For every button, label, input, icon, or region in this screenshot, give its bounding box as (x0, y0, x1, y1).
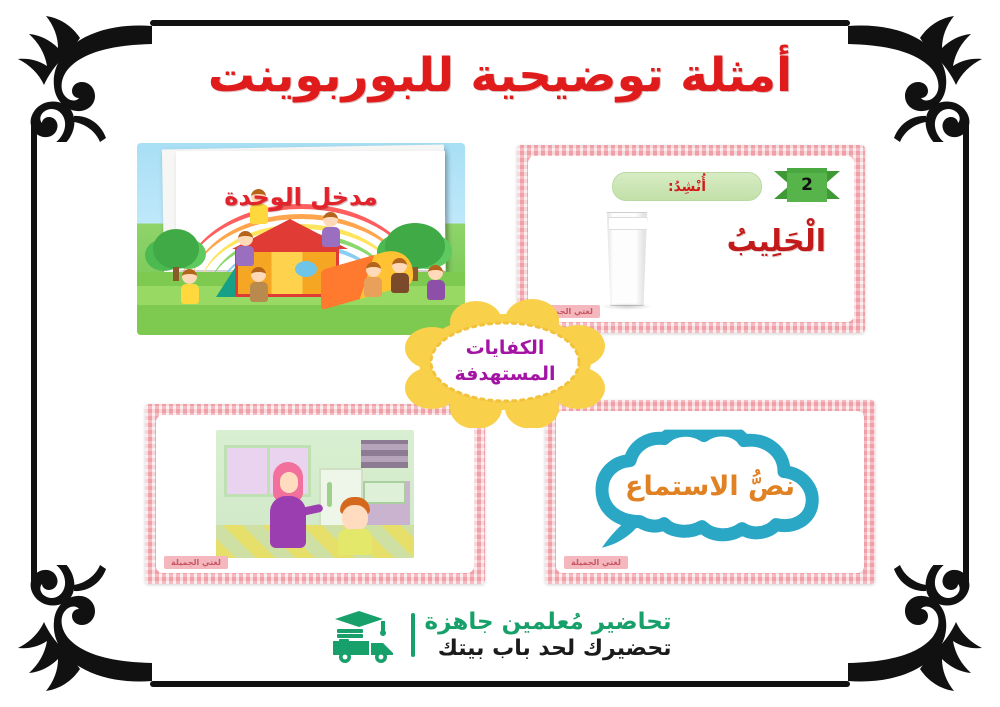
brand-text-block: تحاضير مُعلمين جاهزة تحضيرك لحد باب بيتك (425, 609, 672, 661)
kitchen-illustration (216, 430, 414, 558)
frame-line-right (963, 118, 969, 588)
child-figure (249, 267, 269, 302)
slide-number-ribbon: 2 (774, 168, 840, 202)
unit-intro-heading: مدخل الوحدة (137, 183, 465, 211)
competency-line-1: الكفايات (466, 336, 545, 362)
child-figure (390, 258, 410, 293)
child-figure (180, 269, 200, 304)
kitchen-upper-cabinet (361, 440, 409, 468)
brand-logo: تحاضير مُعلمين جاهزة تحضيرك لحد باب بيتك (0, 607, 1000, 663)
milk-glass-image (604, 212, 650, 306)
slide-kitchen-scene[interactable]: لغتي الجميلة (145, 404, 485, 584)
child-figure (235, 231, 255, 266)
delivery-truck-graduation-cap-icon (329, 607, 401, 663)
sing-label-pill: أُنْشِدُ: (612, 172, 762, 201)
slide-number-text: 2 (801, 175, 813, 195)
child-figure (336, 497, 374, 553)
competency-line-2: المستهدفة (455, 362, 556, 388)
page-root: أمثلة توضيحية للبوربوينت (0, 0, 1000, 707)
brand-name: تحاضير مُعلمين جاهزة (425, 609, 672, 635)
brand-tagline: تحضيرك لحد باب بيتك (425, 636, 672, 661)
slide-footer-label: لغتي الجميلة (564, 556, 628, 569)
child-figure (321, 212, 341, 247)
slide-kitchen-canvas: لغتي الجميلة (156, 415, 474, 573)
listening-text-label: نصُّ الاستماع (556, 411, 864, 573)
slide-footer-label: لغتي الجميلة (164, 556, 228, 569)
center-flower-badge: الكفايات المستهدفة (398, 296, 612, 428)
frame-line-left (31, 118, 37, 588)
slide-listening-canvas: نصُّ الاستماع لغتي الجميلة (556, 411, 864, 573)
kitchen-floor (216, 525, 414, 558)
vocabulary-word: الْحَلِيبُ (727, 224, 826, 259)
frame-line-bottom (150, 681, 850, 687)
page-title: أمثلة توضيحية للبوربوينت (0, 48, 1000, 103)
logo-divider (411, 613, 415, 657)
sing-label-text: أُنْشِدُ: (668, 179, 706, 195)
frame-line-top (150, 20, 850, 26)
child-figure (363, 262, 383, 297)
mother-figure (267, 462, 311, 548)
center-flower-text: الكفايات المستهدفة (398, 296, 612, 428)
